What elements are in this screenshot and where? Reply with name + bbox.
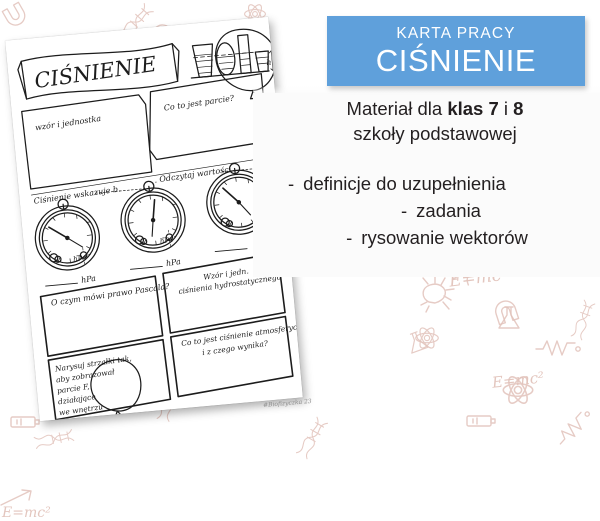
lead-bold-grade8: 8 <box>513 98 523 119</box>
description-block: Materiał dla klas 7 i 8 szkoły podstawow… <box>280 96 590 251</box>
magnet-icon <box>488 294 523 329</box>
list-item: -zadania <box>280 197 590 224</box>
list-item-label: rysowanie wektorów <box>361 227 528 248</box>
lead-bold-grade7: klas 7 <box>447 98 498 119</box>
banner-kicker: KARTA PRACY <box>396 26 515 42</box>
feature-list: -definicje do uzupełnienia -zadania -rys… <box>280 170 590 251</box>
flask-icon <box>494 305 524 331</box>
lead-mid: i <box>499 98 513 119</box>
lead-prefix: Materiał dla <box>347 98 448 119</box>
vessel-height-label: h <box>266 58 272 67</box>
description-lead: Materiał dla klas 7 i 8 <box>280 96 590 121</box>
list-item-label: definicje do uzupełnienia <box>303 173 506 194</box>
atom-icon <box>501 373 535 407</box>
list-item: -definicje do uzupełnienia <box>280 170 590 197</box>
dna-icon <box>565 296 600 344</box>
list-item-label: zadania <box>416 200 481 221</box>
description-lead-line2: szkoły podstawowej <box>280 121 590 146</box>
banner-title: CIŚNIENIE <box>376 45 536 76</box>
battery-icon <box>466 413 498 429</box>
bulb-icon <box>411 272 467 322</box>
bullet-marker: - <box>401 197 407 224</box>
einstein-formula-doodle: E=mc² <box>491 368 545 391</box>
einstein-formula-doodle: E=mc² <box>2 505 51 521</box>
list-item: -rysowanie wektorów <box>280 224 590 251</box>
resistor-icon <box>551 404 595 450</box>
banner: KARTA PRACY CIŚNIENIE <box>327 16 585 86</box>
arrow-doodle-icon <box>0 487 36 509</box>
flask-icon <box>401 326 434 357</box>
atom-icon <box>414 325 440 351</box>
resistor-icon <box>535 337 581 357</box>
bullet-marker: - <box>288 170 294 197</box>
bullet-marker: - <box>346 224 352 251</box>
